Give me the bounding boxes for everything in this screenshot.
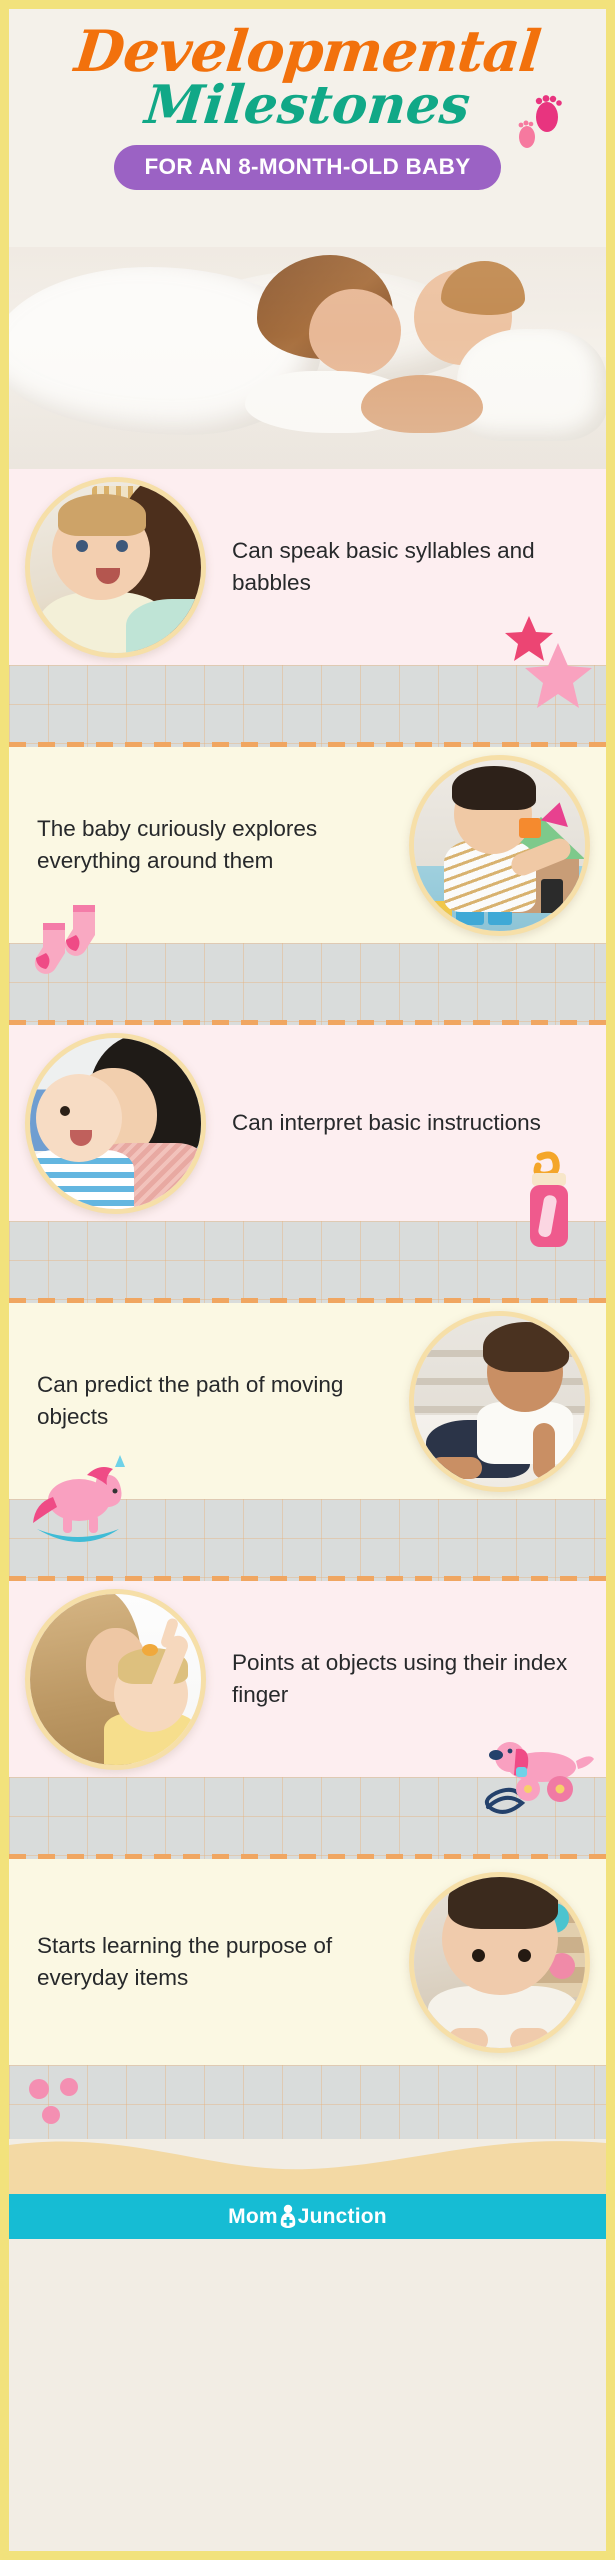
separator-band-2	[9, 943, 606, 1025]
momjunction-logo[interactable]: Mom Junction	[228, 2204, 387, 2230]
subtitle-banner: FOR AN 8-MONTH-OLD BABY	[114, 145, 500, 190]
page-title-line1: Developmental	[6, 23, 609, 80]
hero-photo	[9, 247, 606, 469]
milestone-photo-1	[25, 477, 206, 658]
baby-footprints-icon	[514, 91, 562, 149]
milestone-row-3: Can interpret basic instructions	[9, 1025, 606, 1221]
milestone-photo-4	[409, 1311, 590, 1492]
separator-band-4	[9, 1499, 606, 1581]
milestone-photo-6	[409, 1872, 590, 2053]
milestone-photo-3	[25, 1033, 206, 1214]
milestone-caption-1: Can speak basic syllables and babbles	[206, 535, 590, 599]
milestone-row-5: Points at objects using their index fing…	[9, 1581, 606, 1777]
separator-band-1	[9, 665, 606, 747]
pink-dots-icon	[25, 2075, 97, 2127]
hero-illustration	[9, 247, 606, 469]
milestone-caption-2: The baby curiously explores everything a…	[25, 813, 409, 877]
milestone-caption-5: Points at objects using their index fing…	[206, 1647, 590, 1711]
bottom-border	[9, 2551, 606, 2560]
milestone-photo-2	[409, 755, 590, 936]
milestone-row-1: Can speak basic syllables and babbles	[9, 469, 606, 665]
momjunction-baby-logo-icon	[279, 2204, 297, 2230]
milestone-photo-5	[25, 1589, 206, 1770]
milestone-row-2: The baby curiously explores everything a…	[9, 747, 606, 943]
logo-text-junction: Junction	[298, 2205, 387, 2229]
header: Developmental Milestones FOR AN 8-MONTH-…	[9, 9, 606, 247]
milestone-row-4: Can predict the path of moving objects	[9, 1303, 606, 1499]
separator-band-6	[9, 2065, 606, 2139]
milestone-caption-6: Starts learning the purpose of everyday …	[25, 1930, 409, 1994]
footer-brand-bar: Mom Junction	[9, 2194, 606, 2239]
footer-wave	[9, 2139, 606, 2201]
milestone-caption-4: Can predict the path of moving objects	[25, 1369, 409, 1433]
logo-text-mom: Mom	[228, 2205, 278, 2229]
separator-band-3	[9, 1221, 606, 1303]
infographic-root: Developmental Milestones FOR AN 8-MONTH-…	[0, 0, 615, 2560]
footer: Mom Junction	[9, 2139, 606, 2239]
milestone-caption-3: Can interpret basic instructions	[206, 1107, 590, 1139]
separator-band-5	[9, 1777, 606, 1859]
milestone-row-6: Starts learning the purpose of everyday …	[9, 1859, 606, 2065]
